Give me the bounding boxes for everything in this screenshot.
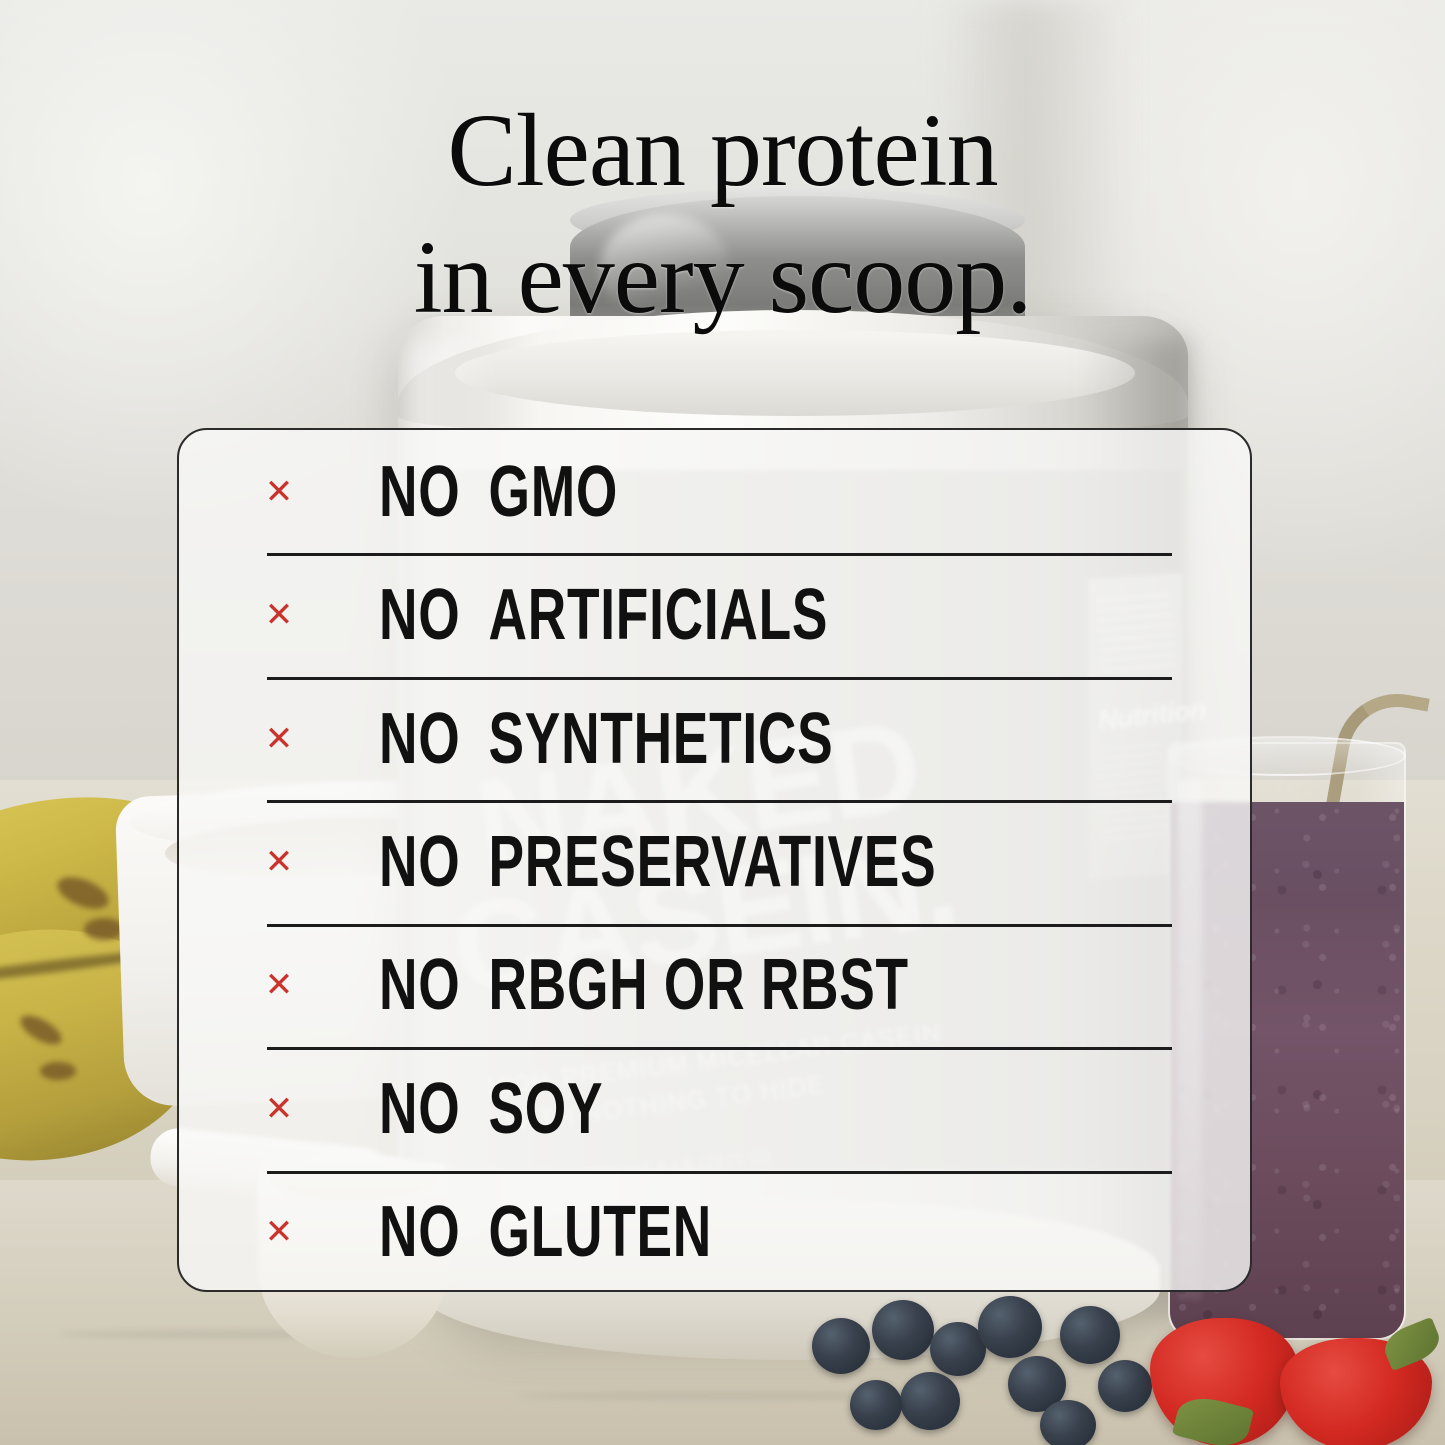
- benefit-item: GMO: [489, 456, 618, 528]
- benefits-list: ✕NOGMO✕NOARTIFICIALS✕NOSYNTHETICS✕NOPRES…: [179, 430, 1250, 1290]
- benefit-row: ✕NOSYNTHETICS: [179, 677, 1250, 800]
- benefit-label: NOSYNTHETICS: [379, 703, 833, 775]
- blueberry: [812, 1318, 870, 1374]
- benefit-row: ✕NOSOY: [179, 1047, 1250, 1170]
- benefit-row: ✕NOARTIFICIALS: [179, 553, 1250, 676]
- benefit-prefix: NO: [379, 456, 460, 528]
- benefit-prefix: NO: [379, 1073, 460, 1145]
- benefit-item: RBGH OR RBST: [489, 949, 909, 1021]
- blueberry: [1060, 1306, 1120, 1364]
- benefit-label: NOGMO: [379, 456, 618, 528]
- cross-icon: ✕: [179, 475, 379, 509]
- blueberry: [1040, 1400, 1096, 1445]
- promo-image: NAKED CASEIN. 100% PREMIUM MICELLAR CASE…: [0, 0, 1445, 1445]
- cross-icon: ✕: [179, 1215, 379, 1249]
- benefit-label: NOSOY: [379, 1073, 603, 1145]
- benefit-row: ✕NORBGH OR RBST: [179, 924, 1250, 1047]
- benefit-item: SYNTHETICS: [489, 703, 834, 775]
- benefit-label: NOARTIFICIALS: [379, 579, 828, 651]
- benefit-prefix: NO: [379, 826, 460, 898]
- benefit-label: NORBGH OR RBST: [379, 949, 909, 1021]
- benefit-item: ARTIFICIALS: [489, 579, 829, 651]
- benefit-row: ✕NOGLUTEN: [179, 1171, 1250, 1292]
- benefit-item: SOY: [489, 1073, 604, 1145]
- cross-icon: ✕: [179, 1092, 379, 1126]
- headline-line-2: in every scoop.: [0, 215, 1445, 342]
- headline: Clean protein in every scoop.: [0, 88, 1445, 342]
- benefit-item: GLUTEN: [489, 1196, 712, 1268]
- benefit-prefix: NO: [379, 949, 460, 1021]
- benefit-prefix: NO: [379, 579, 460, 651]
- benefit-item: PRESERVATIVES: [489, 826, 937, 898]
- benefit-prefix: NO: [379, 703, 460, 775]
- blueberry: [850, 1380, 902, 1430]
- benefits-card: ✕NOGMO✕NOARTIFICIALS✕NOSYNTHETICS✕NOPRES…: [177, 428, 1252, 1292]
- headline-line-1: Clean protein: [447, 93, 997, 208]
- cross-icon: ✕: [179, 845, 379, 879]
- tub-neck: [455, 330, 1135, 416]
- benefit-label: NOPRESERVATIVES: [379, 826, 936, 898]
- benefit-row: ✕NOPRESERVATIVES: [179, 800, 1250, 923]
- benefit-prefix: NO: [379, 1196, 460, 1268]
- blueberry: [1098, 1360, 1152, 1412]
- benefit-label: NOGLUTEN: [379, 1196, 712, 1268]
- blueberry: [900, 1372, 960, 1430]
- cross-icon: ✕: [179, 722, 379, 756]
- blueberry: [978, 1296, 1042, 1358]
- benefit-row: ✕NOGMO: [179, 430, 1250, 553]
- banana-spot: [40, 1062, 76, 1080]
- cross-icon: ✕: [179, 598, 379, 632]
- blueberry: [872, 1300, 934, 1360]
- banana-spot: [84, 918, 124, 940]
- cross-icon: ✕: [179, 968, 379, 1002]
